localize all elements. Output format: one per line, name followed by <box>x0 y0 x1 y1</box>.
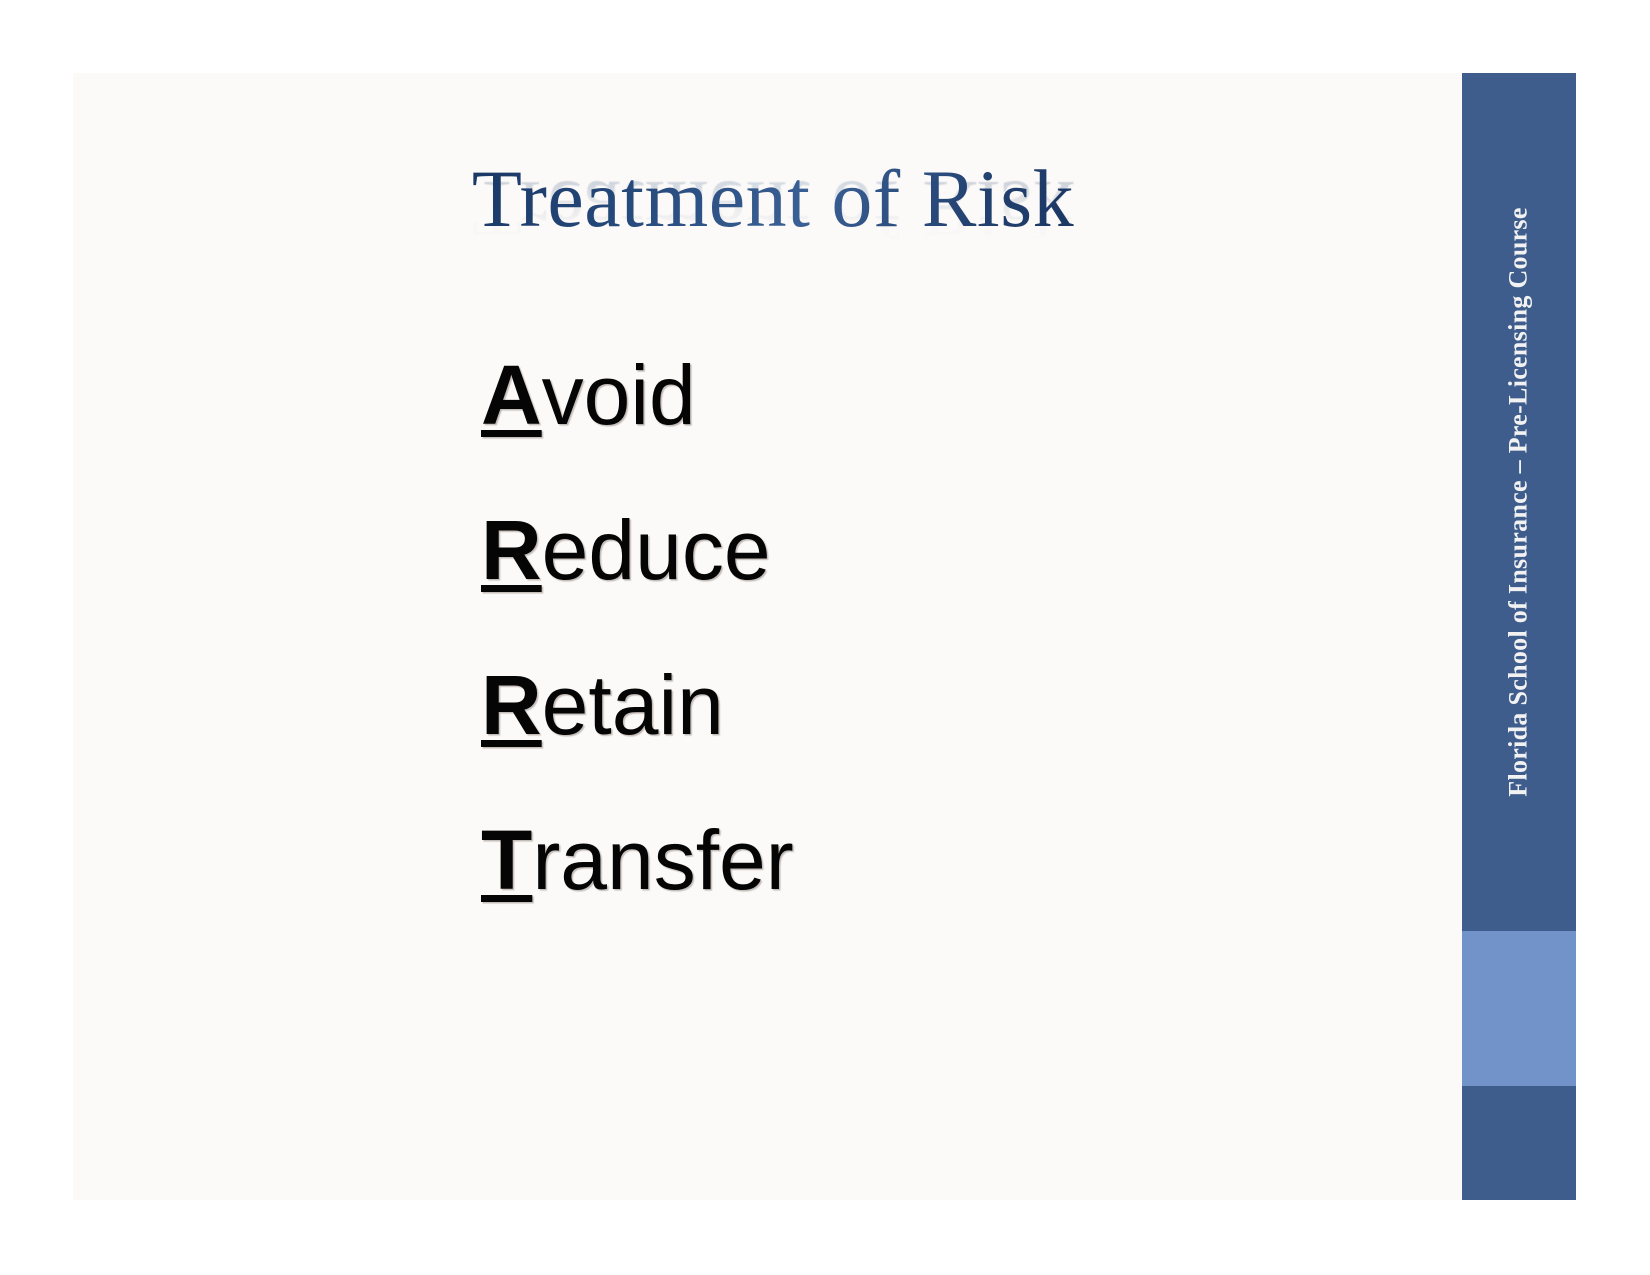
list-item: Reduce <box>481 508 1241 663</box>
bullet-initial-letter: R <box>481 658 542 752</box>
sidebar-block-top <box>1462 73 1576 931</box>
sidebar-bar: Florida School of Insurance – Pre-Licens… <box>1462 73 1576 1200</box>
list-item: Avoid <box>481 353 1241 508</box>
bullet-remainder: void <box>542 348 696 442</box>
sidebar-block-bottom <box>1462 1086 1576 1200</box>
bullet-initial-letter: A <box>481 348 542 442</box>
bullet-initial-letter: R <box>481 503 542 597</box>
bullet-initial-letter: T <box>481 813 532 907</box>
page-title-reflection: Treatment of Risk <box>403 168 1143 250</box>
slide-title-block: Treatment of Risk Treatment of Risk <box>403 158 1143 368</box>
bullet-remainder: ransfer <box>532 813 793 907</box>
bullet-remainder: educe <box>542 503 771 597</box>
sidebar-block-middle <box>1462 931 1576 1086</box>
bullet-remainder: etain <box>542 658 724 752</box>
slide-canvas: Treatment of Risk Treatment of Risk Avoi… <box>73 73 1576 1200</box>
list-item: Retain <box>481 663 1241 818</box>
list-item: Transfer <box>481 818 1241 973</box>
bullet-list: Avoid Reduce Retain Transfer <box>481 353 1241 973</box>
